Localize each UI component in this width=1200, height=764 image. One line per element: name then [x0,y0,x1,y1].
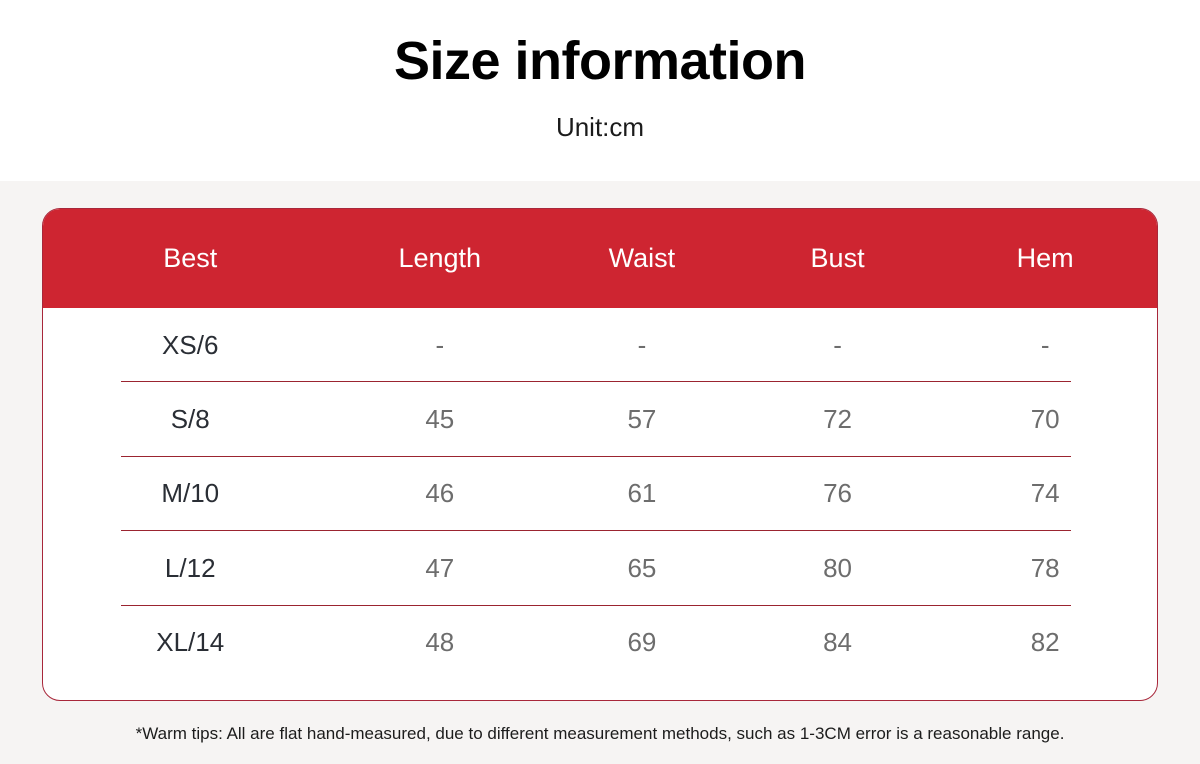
column-header-hem: Hem [933,243,1157,274]
cell-waist: 65 [542,553,742,584]
table-body: XS/6 - - - - S/8 45 57 72 70 M/10 46 61 … [43,308,1157,680]
table-row: M/10 46 61 76 74 [43,457,1157,531]
title-band: Size information Unit:cm [0,0,1200,181]
cell-hem: 74 [933,478,1157,509]
table-row: S/8 45 57 72 70 [43,382,1157,456]
cell-length: 46 [337,478,542,509]
column-header-waist: Waist [542,243,742,274]
cell-size: M/10 [43,478,337,509]
cell-hem: 70 [933,404,1157,435]
table-row: XL/14 48 69 84 82 [43,606,1157,680]
cell-length: 48 [337,627,542,658]
cell-waist: 69 [542,627,742,658]
column-header-best: Best [43,243,337,274]
cell-waist: 61 [542,478,742,509]
table-row: L/12 47 65 80 78 [43,531,1157,605]
cell-waist: 57 [542,404,742,435]
unit-subtitle: Unit:cm [0,112,1200,143]
cell-hem: 78 [933,553,1157,584]
table-row: XS/6 - - - - [43,308,1157,382]
cell-hem: - [933,330,1157,361]
cell-bust: - [742,330,934,361]
cell-size: XS/6 [43,330,337,361]
cell-length: - [337,330,542,361]
cell-waist: - [542,330,742,361]
column-header-length: Length [337,243,542,274]
cell-size: L/12 [43,553,337,584]
warm-tips-note: *Warm tips: All are flat hand-measured, … [0,724,1200,744]
cell-size: XL/14 [43,627,337,658]
page-title: Size information [0,33,1200,90]
cell-length: 45 [337,404,542,435]
cell-bust: 84 [742,627,934,658]
table-header-row: Best Length Waist Bust Hem [43,209,1157,308]
size-chart-card: Best Length Waist Bust Hem XS/6 - - - - … [42,208,1158,701]
cell-bust: 80 [742,553,934,584]
cell-length: 47 [337,553,542,584]
cell-bust: 72 [742,404,934,435]
column-header-bust: Bust [742,243,934,274]
cell-hem: 82 [933,627,1157,658]
cell-size: S/8 [43,404,337,435]
cell-bust: 76 [742,478,934,509]
